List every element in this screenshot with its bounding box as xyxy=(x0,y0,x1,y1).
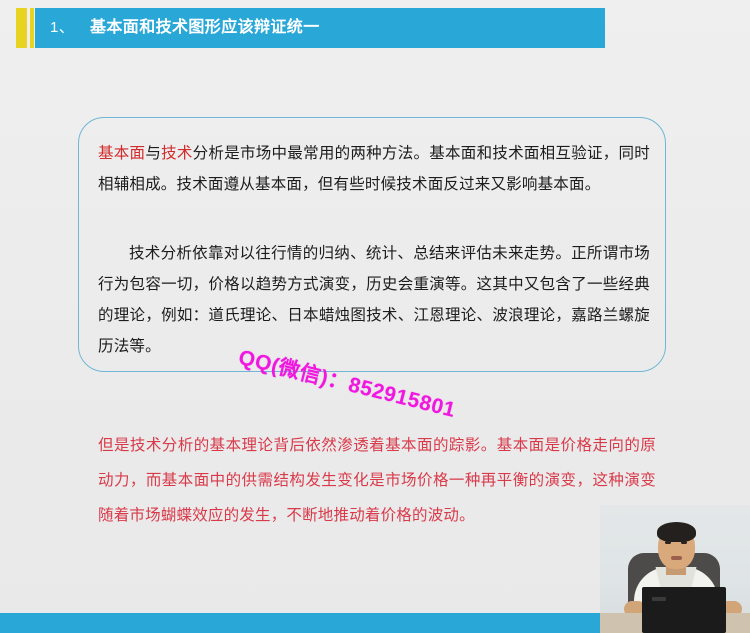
paragraph-one: 基本面与技术分析是市场中最常用的两种方法。基本面和技术面相互验证，同时相辅相成。… xyxy=(98,138,650,200)
video-presenter-hair xyxy=(657,522,696,542)
footer-accent-bar xyxy=(0,613,601,633)
video-laptop-logo xyxy=(652,597,666,601)
slide-header: 1、 基本面和技术图形应该辩证统一 xyxy=(0,8,750,48)
video-laptop xyxy=(642,587,726,633)
header-accent-bar-thin xyxy=(30,8,34,48)
bottom-red-paragraph: 但是技术分析的基本理论背后依然渗透着基本面的踪影。基本面是价格走向的原动力，而基… xyxy=(98,428,656,533)
highlight-fundamental: 基本面 xyxy=(98,145,145,162)
video-presenter-eye-left xyxy=(665,541,671,544)
video-presenter-eye-right xyxy=(681,541,687,544)
header-accent-bar-wide xyxy=(16,8,27,48)
slide-canvas: 1、 基本面和技术图形应该辩证统一 基本面与技术分析是市场中最常用的两种方法。基… xyxy=(0,0,750,633)
highlight-technical: 技术 xyxy=(161,145,193,162)
page-title: 基本面和技术图形应该辩证统一 xyxy=(90,17,320,39)
header-index-number: 1、 xyxy=(50,18,74,38)
paragraph-two: 技术分析依靠对以往行情的归纳、统计、总结来评估未来走势。正所谓市场行为包容一切，… xyxy=(98,238,650,362)
video-presenter-mouth xyxy=(671,556,682,560)
presenter-video-inset[interactable] xyxy=(600,505,750,633)
paragraph-one-connector: 与 xyxy=(145,145,161,162)
